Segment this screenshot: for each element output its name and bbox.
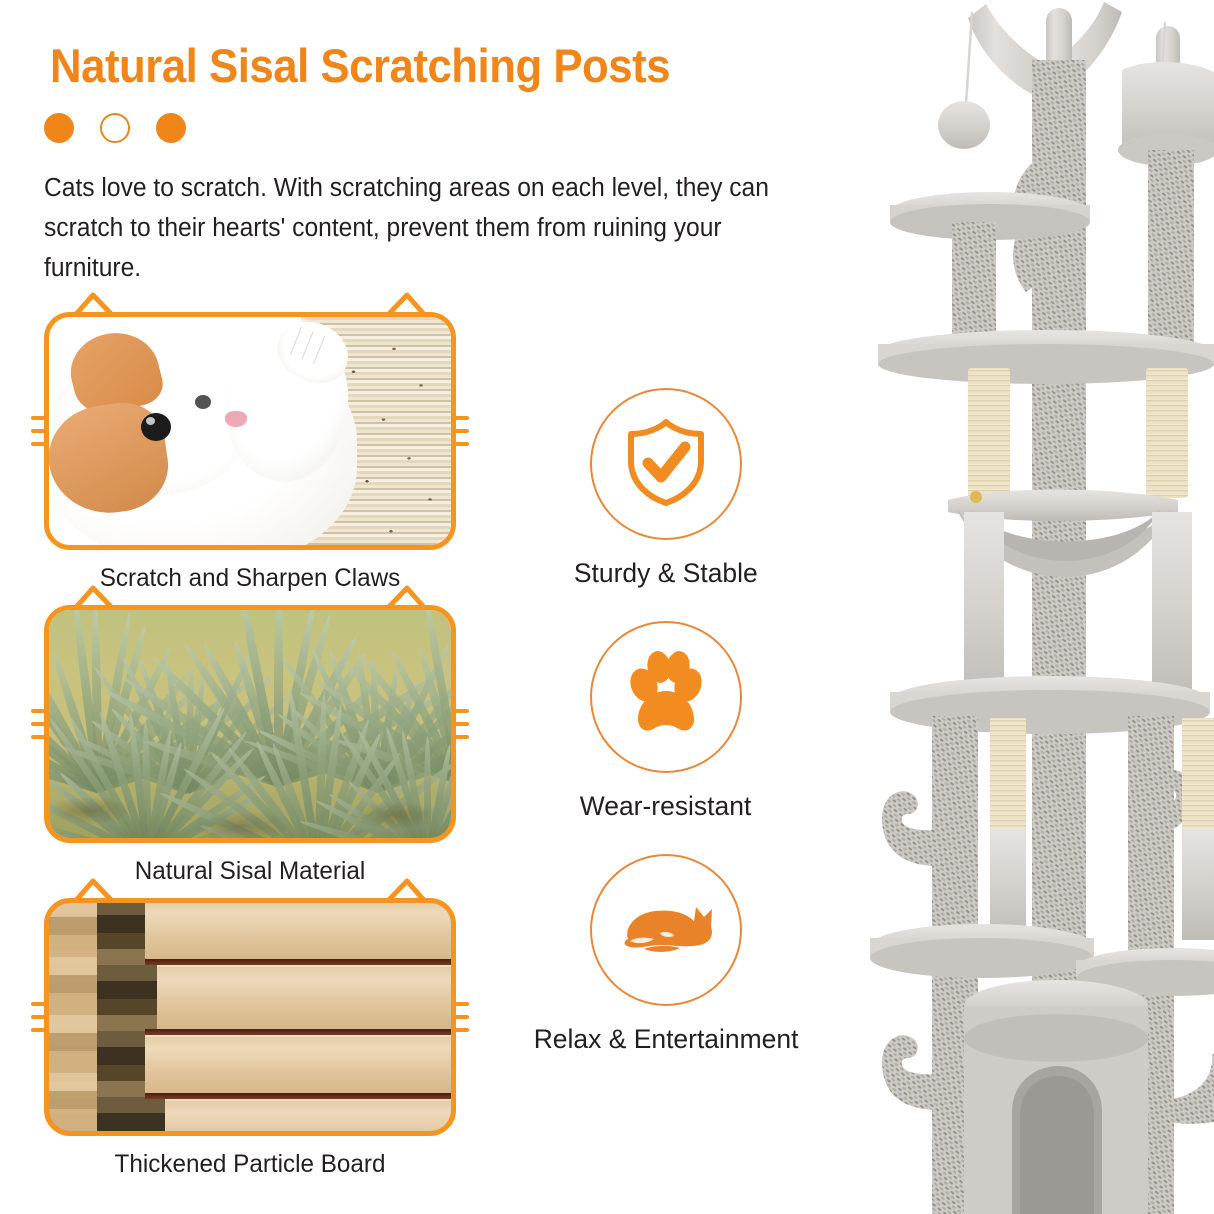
agave-plant	[295, 631, 451, 789]
left-content-column: Natural Sisal Scratching Posts Cats love…	[0, 0, 860, 1214]
cat-ear-left-icon	[67, 876, 123, 906]
plush-post	[964, 512, 1004, 700]
photo-particle-board	[49, 903, 451, 1131]
feature-label: Wear-resistant	[580, 791, 752, 822]
cat-frame-1	[44, 312, 456, 550]
sleeping-cat-icon	[614, 893, 718, 968]
sisal-wrapped-post	[1182, 718, 1214, 828]
photo-card-particle-board: Thickened Particle Board	[44, 898, 456, 1179]
photo-card-sisal-material: Natural Sisal Material	[44, 605, 456, 886]
cactus-curved-branch-left-1	[882, 791, 938, 866]
sisal-wrapped-post	[990, 718, 1026, 828]
dot-1-icon	[44, 113, 74, 143]
agave-plant	[228, 694, 401, 838]
condo-house-with-arch-entry	[964, 980, 1148, 1214]
cat-ear-right-icon	[377, 583, 433, 613]
shield-check-icon	[623, 417, 709, 512]
infographic-page: Natural Sisal Scratching Posts Cats love…	[0, 0, 1214, 1214]
cat-whiskers-left-icon	[31, 416, 49, 446]
cat-whiskers-right-icon	[451, 709, 469, 739]
round-platform-4	[870, 924, 1094, 978]
sisal-wrapped-post	[1146, 368, 1188, 498]
chenille-post	[1148, 150, 1194, 350]
feature-icon-circle	[590, 621, 742, 773]
feature-label: Relax & Entertainment	[534, 1024, 799, 1055]
plush-post	[1152, 512, 1192, 700]
cat-whiskers-right-icon	[451, 416, 469, 446]
feature-wear-resistant: Wear-resistant	[476, 621, 856, 822]
cat-ear-right-icon	[377, 290, 433, 320]
cat-frame-2	[44, 605, 456, 843]
plush-post	[1182, 828, 1214, 940]
photo-cat-scratching	[49, 317, 451, 545]
dot-3-icon	[156, 113, 186, 143]
cat-ear-left-icon	[67, 290, 123, 320]
agave-plant	[49, 610, 188, 789]
dot-indicator-group	[44, 113, 186, 143]
agave-plant	[109, 640, 259, 790]
feature-list: Sturdy & Stable Wear-resistant	[476, 388, 856, 1087]
cat-whiskers-right-icon	[451, 1002, 469, 1032]
photo-card-list: Scratch and Sharpen Claws	[44, 312, 456, 1191]
agave-plant	[349, 710, 451, 838]
agave-plant	[177, 610, 372, 783]
cat-ear-left-icon	[67, 583, 123, 613]
cat-tree-illustration	[860, 0, 1214, 1214]
photo-sisal-plants	[49, 610, 451, 838]
cat-ear-right-icon	[377, 876, 433, 906]
intro-paragraph: Cats love to scratch. With scratching ar…	[44, 168, 806, 288]
sisal-wrapped-post	[968, 368, 1010, 498]
cactus-curved-branch-left-2	[882, 1035, 938, 1110]
product-photo-cat-tree	[860, 0, 1214, 1214]
page-title: Natural Sisal Scratching Posts	[50, 38, 670, 93]
feature-relax-entertainment: Relax & Entertainment	[476, 854, 856, 1055]
agave-plant	[62, 693, 227, 839]
cat-whiskers-left-icon	[31, 1002, 49, 1032]
paw-print-icon	[618, 647, 714, 748]
photo-card-scratch-claws: Scratch and Sharpen Claws	[44, 312, 456, 593]
photo-caption: Thickened Particle Board	[50, 1150, 450, 1179]
feature-sturdy-stable: Sturdy & Stable	[476, 388, 856, 589]
dot-2-icon	[100, 113, 130, 143]
cat-whiskers-left-icon	[31, 709, 49, 739]
feature-icon-circle	[590, 854, 742, 1006]
plush-post	[990, 828, 1026, 940]
cat-frame-3	[44, 898, 456, 1136]
agave-plant	[364, 610, 451, 780]
feature-label: Sturdy & Stable	[574, 558, 758, 589]
feature-icon-circle	[590, 388, 742, 540]
